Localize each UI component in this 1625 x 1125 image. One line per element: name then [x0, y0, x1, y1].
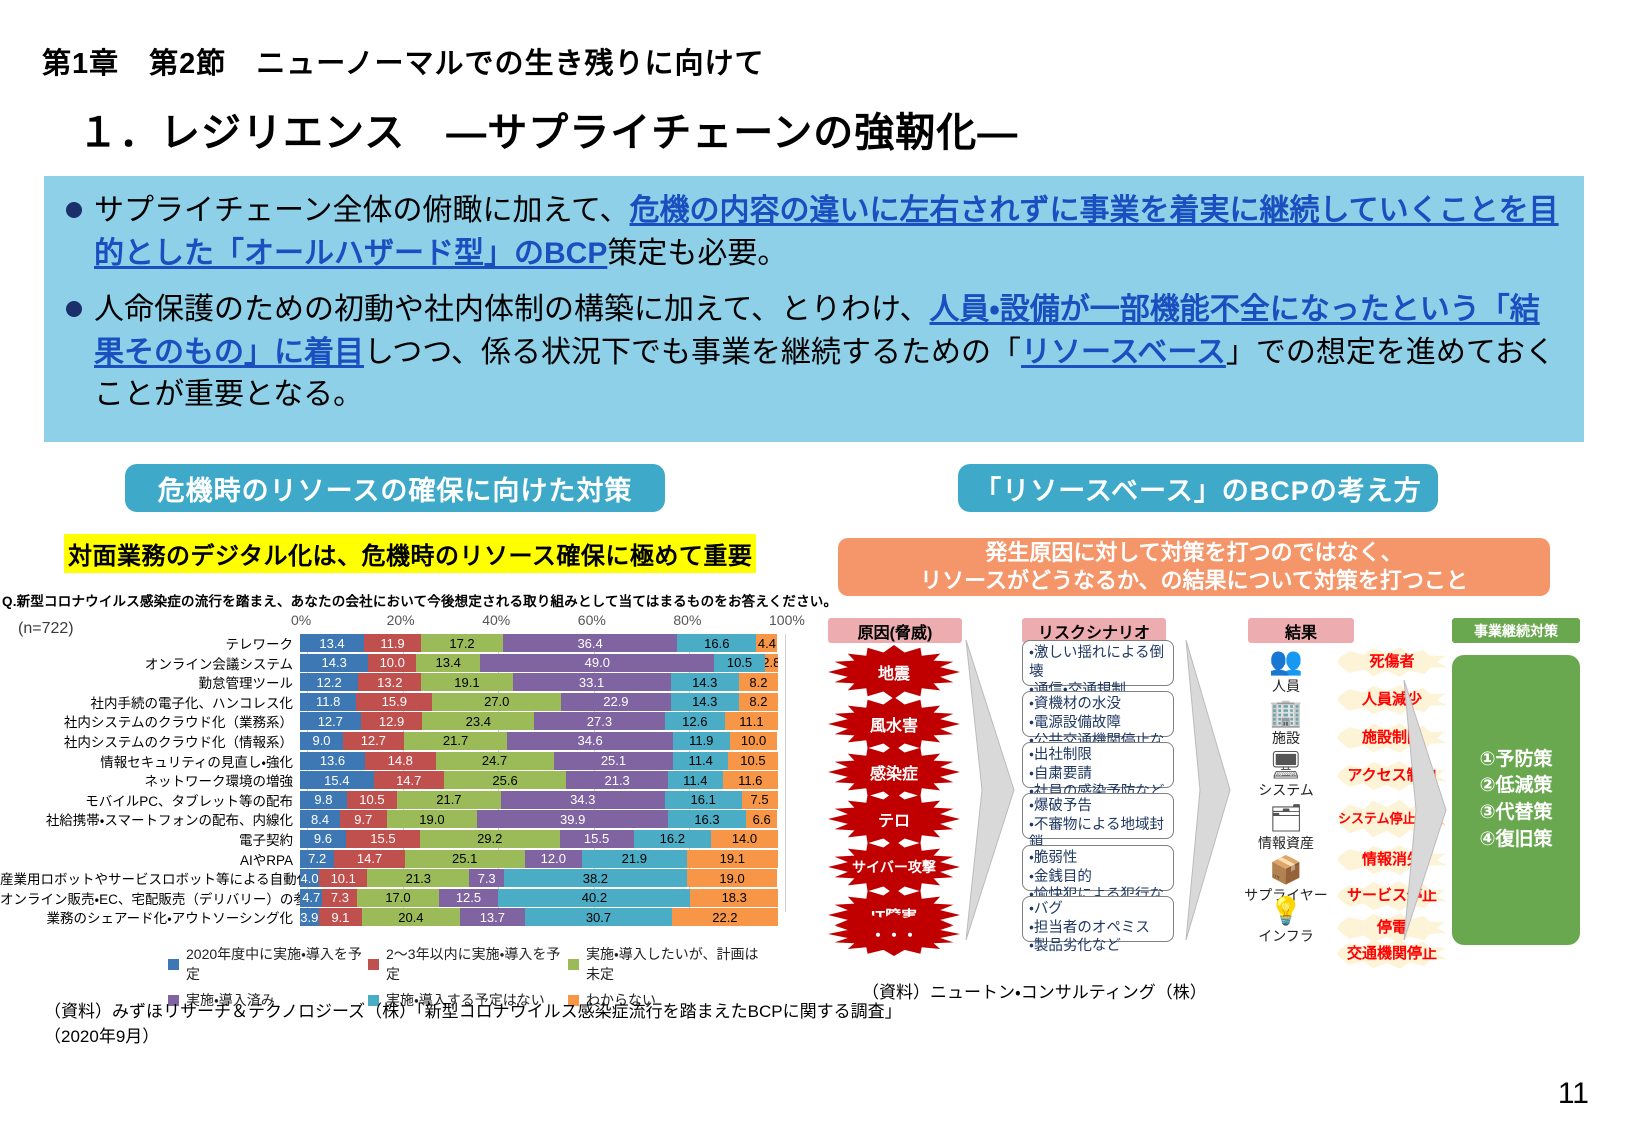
chart-segment: 16.2: [634, 830, 711, 848]
scenario-box: ・爆破予告・不審物による地域封鎖・オフィスビルからの避難など: [1022, 793, 1174, 839]
chart-category-label: 情報セキュリティの見直し・強化: [0, 751, 300, 771]
scenario-line: ・製品劣化など: [1029, 937, 1167, 956]
chart-segment: 19.1: [687, 850, 778, 868]
resource-label: システム: [1240, 780, 1332, 800]
chart-segment: 17.0: [357, 889, 438, 907]
chart-segment: 9.0: [300, 732, 343, 750]
chart-segment: 11.6: [723, 771, 778, 789]
legend-item: 実施・導入したいが、計画は未定: [568, 944, 768, 984]
chart-row: 産業用ロボットやサービスロボット等による自動化4.010.121.37.338.…: [0, 869, 790, 887]
chart-segment: 14.3: [671, 693, 739, 711]
scenario-line: ・金銭目的: [1029, 868, 1167, 887]
chart-segment: 24.7: [436, 752, 554, 770]
resource-glyph-icon: 🏢: [1240, 700, 1332, 727]
x-tick-label: 20%: [387, 612, 415, 628]
chart-segment: 38.2: [504, 869, 687, 887]
legend-swatch-icon: [368, 959, 379, 970]
chart-row: AIやRPA7.214.725.112.021.919.1: [0, 850, 790, 868]
chart-category-label: オンライン販売・EC、宅配販売（デリバリー）の参入・拡充: [0, 888, 300, 908]
chart-segment: 9.7: [340, 810, 386, 828]
result-burst-icon: 死傷者: [1336, 646, 1448, 678]
legend-swatch-icon: [168, 959, 179, 970]
chart-segment: 11.1: [725, 712, 778, 730]
arrow-result-to-measure: [1400, 680, 1452, 940]
chart-segment: 13.4: [300, 634, 364, 652]
legend-swatch-icon: [568, 959, 579, 970]
chart-segment: 9.8: [300, 791, 347, 809]
chart-row: モバイルPC、タブレット等の配布9.810.521.734.316.17.5: [0, 791, 790, 809]
x-tick-label: 40%: [482, 612, 510, 628]
chart-segment: 12.0: [525, 850, 582, 868]
section-pill-right: 「リソースベース」のBCPの考え方: [958, 464, 1438, 512]
result-line: 死傷者: [1369, 654, 1414, 671]
measure-list: ①予防策②低減策③代替策④復旧策: [1479, 747, 1552, 853]
source-left: （資料）みずほリサーチ＆テクノロジーズ（株）「新型コロナウイルス感染症流行を踏ま…: [44, 1000, 902, 1049]
scenario-box: ・バグ・担当者のオペミス・製品劣化など: [1022, 896, 1174, 942]
cause-burst-icon: 感染症: [828, 745, 960, 799]
scenario-box: ・激しい揺れによる倒壊・通信・交通規制・公共交通機関停止など: [1022, 640, 1174, 686]
chart-segment: 19.0: [687, 869, 778, 887]
chart-segment: 36.4: [503, 634, 677, 652]
chart-category-label: 社内システムのクラウド化（業務系）: [0, 711, 300, 731]
cause-burst-icon: テロ: [828, 792, 960, 846]
chart-segment: 34.6: [507, 732, 672, 750]
chart-category-label: AIやRPA: [0, 849, 300, 869]
chart-segment: 7.3: [469, 869, 504, 887]
chart-segment: 21.3: [367, 869, 469, 887]
chart-segment: 25.6: [444, 771, 566, 789]
bullet1-pre: サプライチェーン全体の俯瞰に加えて、: [94, 194, 630, 227]
chart-segment: 16.3: [668, 810, 746, 828]
chart-category-label: 電子契約: [0, 829, 300, 849]
resource-label: 人員: [1240, 676, 1332, 696]
chart-segment: 40.2: [498, 889, 690, 907]
chart-segment: 21.7: [397, 791, 501, 809]
chart-segment: 3.9: [300, 908, 319, 926]
chart-segment: 12.2: [300, 673, 358, 691]
chart-category-label: 社内システムのクラウド化（情報系）: [0, 731, 300, 751]
key-points-callout: サプライチェーン全体の俯瞰に加えて、危機の内容の違いに左右されずに事業を着実に継…: [44, 176, 1584, 442]
chart-segment: 2.8: [765, 654, 778, 672]
chart-segment: 39.9: [477, 810, 668, 828]
chart-segment: 12.5: [439, 889, 499, 907]
chart-segment: 10.1: [319, 869, 367, 887]
chart-category-label: テレワーク: [0, 633, 300, 653]
scenario-box: ・資機材の水没・電源設備故障・公共交通機関停止など: [1022, 691, 1174, 737]
folder-icon: 🗂情報資産: [1240, 805, 1332, 853]
chart-bar: 9.615.529.215.516.214.0: [300, 830, 778, 848]
chart-segment: 15.5: [346, 830, 420, 848]
chart-segment: 14.3: [300, 654, 368, 672]
chart-row: オンライン会議システム14.310.013.449.010.52.8: [0, 654, 790, 672]
chart-segment: 12.7: [343, 732, 404, 750]
chart-bar: 4.77.317.012.540.218.3: [300, 889, 778, 907]
arrow-cause-to-scenario: [960, 640, 1020, 940]
page-number: 11: [1558, 1077, 1589, 1111]
chart-category-label: モバイルPC、タブレット等の配布: [0, 790, 300, 810]
chart-row: 電子契約9.615.529.215.516.214.0: [0, 830, 790, 848]
chart-segment: 12.7: [300, 712, 361, 730]
chart-segment: 12.9: [361, 712, 423, 730]
chart-segment: 12.6: [665, 712, 725, 730]
scenario-line: ・激しい揺れによる倒壊: [1029, 644, 1167, 681]
bullet-dot-icon: [66, 202, 82, 218]
chart-segment: 27.0: [432, 693, 561, 711]
chart-segment: 7.3: [322, 889, 357, 907]
chart-row: 社内システムのクラウド化（情報系）9.012.721.734.611.910.0: [0, 732, 790, 750]
chart-bar: 7.214.725.112.021.919.1: [300, 850, 778, 868]
chart-segment: 25.1: [405, 850, 525, 868]
scenario-box: ・出社制限・自粛要請・社員の感染予防など: [1022, 742, 1174, 788]
resource-label: 情報資産: [1240, 833, 1332, 853]
chart-segment: 10.5: [347, 791, 397, 809]
chart-row: テレワーク13.411.917.236.416.64.4: [0, 634, 790, 652]
result-line: システム: [1338, 812, 1390, 826]
chart-segment: 11.8: [300, 693, 356, 711]
chart-segment: 20.4: [362, 908, 460, 926]
scenario-line: ・資機材の水没: [1029, 695, 1167, 714]
computer-icon: 🖥システム: [1240, 752, 1332, 800]
legend-label: 実施・導入したいが、計画は未定: [586, 944, 768, 984]
x-tick-label: 100%: [769, 612, 805, 628]
chart-segment: 10.0: [368, 654, 416, 672]
chart-segment: 7.5: [742, 791, 778, 809]
chart-segment: 21.3: [566, 771, 668, 789]
chart-segment: 4.0: [300, 869, 319, 887]
chart-segment: 21.7: [404, 732, 508, 750]
bullet1-post: 策定も必要。: [607, 237, 787, 270]
legend-label: 2～3年以内に実施・導入を予定: [386, 944, 568, 984]
resource-label: インフラ: [1240, 926, 1332, 946]
chart-segment: 13.6: [300, 752, 365, 770]
chart-segment: 22.9: [561, 693, 670, 711]
chart-segment: 7.2: [300, 850, 334, 868]
chart-segment: 16.6: [677, 634, 756, 652]
chapter-subtitle: 第1章 第2節 ニューノーマルでの生き残りに向けて: [42, 40, 765, 82]
chart-segment: 18.3: [690, 889, 777, 907]
section-pill-left: 危機時のリソースの確保に向けた対策: [125, 464, 665, 512]
infra-icon: 💡インフラ: [1240, 898, 1332, 946]
chart-row: 勤怠管理ツール12.213.219.133.114.38.2: [0, 673, 790, 691]
chart-row: 情報セキュリティの見直し・強化13.614.824.725.111.410.5: [0, 752, 790, 770]
chart-segment: 13.2: [358, 673, 421, 691]
measure-item: ④復旧策: [1479, 827, 1552, 854]
concept-line-2: リソースがどうなるか、の結果について対策を打つこと: [920, 567, 1468, 595]
page-title: １．レジリエンス ―サプライチェーンの強靭化―: [78, 100, 1018, 158]
cause-burst-icon: サイバー攻撃: [828, 840, 960, 894]
result-burst-icon: 交通機関停止: [1336, 938, 1448, 970]
resource-label: 施設: [1240, 728, 1332, 748]
chart-row: 社内手続の電子化、ハンコレス化11.815.927.022.914.38.2: [0, 693, 790, 711]
chart-category-label: 勤怠管理ツール: [0, 672, 300, 692]
bullet-item-2: 人命保護のための初動や社内体制の構築に加えて、とりわけ、人員・設備が一部機能不全…: [66, 289, 1562, 417]
chart-row: 社内システムのクラウド化（業務系）12.712.923.427.312.611.…: [0, 712, 790, 730]
chart-bar: 12.213.219.133.114.38.2: [300, 673, 778, 691]
chart-segment: 17.2: [421, 634, 503, 652]
concept-banner: 発生原因に対して対策を打つのではなく、 リソースがどうなるか、の結果について対策…: [838, 538, 1550, 596]
arrow-scenario-to-result: [1180, 640, 1236, 940]
chart-question: Q.新型コロナウイルス感染症の流行を踏まえ、あなたの会社において今後想定される取…: [2, 590, 837, 610]
legend-label: 2020年度中に実施・導入を予定: [186, 944, 368, 984]
chart-segment: 9.6: [300, 830, 346, 848]
chart-segment: 13.7: [460, 908, 525, 926]
chart-segment: 14.3: [671, 673, 739, 691]
bullet2-highlight2: リソースベース: [1021, 336, 1226, 369]
cause-burst-icon: 地震: [828, 645, 960, 699]
scenario-line: ・脆弱性: [1029, 849, 1167, 868]
source-right: （資料）ニュートン・コンサルティング（株）: [862, 978, 1207, 1003]
chart-segment: 13.4: [416, 654, 480, 672]
chart-segment: 9.1: [319, 908, 362, 926]
chart-headline: 対面業務のデジタル化は、危機時のリソース確保に極めて重要: [64, 534, 756, 573]
chart-bar: 13.411.917.236.416.64.4: [300, 634, 778, 652]
chart-bar: 9.012.721.734.611.910.0: [300, 732, 778, 750]
chart-category-label: 産業用ロボットやサービスロボット等による自動化: [0, 868, 300, 888]
bullet2-mid: しつつ、係る状況下でも事業を継続するための「: [364, 336, 1021, 369]
chart-segment: 49.0: [480, 654, 714, 672]
scenario-line: ・出社制限: [1029, 746, 1167, 765]
bullet-dot-icon: [66, 301, 82, 317]
chart-category-label: ネットワーク環境の増強: [0, 770, 300, 790]
measures-box: ①予防策②低減策③代替策④復旧策: [1452, 655, 1580, 945]
resource-glyph-icon: 🖥: [1240, 752, 1332, 779]
chart-bar: 3.99.120.413.730.722.2: [300, 908, 778, 926]
chart-segment: 27.3: [534, 712, 664, 730]
chart-segment: 19.0: [387, 810, 478, 828]
chart-segment: 14.8: [365, 752, 436, 770]
measure-item: ①予防策: [1479, 747, 1552, 774]
column-header-measure: 事業継続対策: [1452, 618, 1580, 643]
x-tick-label: 60%: [578, 612, 606, 628]
scenario-line: ・電源設備故障: [1029, 714, 1167, 733]
chart-category-label: オンライン会議システム: [0, 653, 300, 673]
result-line: 交通機関停止: [1347, 946, 1437, 963]
chart-segment: 15.9: [356, 693, 432, 711]
chart-row: 社給携帯・スマートフォンの配布、内線化8.49.719.039.916.36.6: [0, 810, 790, 828]
chart-segment: 10.0: [730, 732, 778, 750]
scenario-line: ・担当者のオペミス: [1029, 919, 1167, 938]
chart-segment: 11.4: [668, 771, 722, 789]
chart-segment: 8.4: [300, 810, 340, 828]
chart-bar: 9.810.521.734.316.17.5: [300, 791, 778, 809]
chart-segment: 33.1: [513, 673, 671, 691]
chart-segment: 16.1: [665, 791, 742, 809]
people-icon: 👥人員: [1240, 648, 1332, 696]
chart-segment: 11.9: [673, 732, 730, 750]
resource-glyph-icon: 💡: [1240, 898, 1332, 925]
chart-segment: 11.9: [364, 634, 421, 652]
resource-glyph-icon: 👥: [1240, 648, 1332, 675]
x-tick-label: 0%: [291, 612, 311, 628]
stacked-bar-chart: テレワーク13.411.917.236.416.64.4オンライン会議システム1…: [0, 634, 790, 928]
chart-segment: 29.2: [420, 830, 560, 848]
bullet-text-1: サプライチェーン全体の俯瞰に加えて、危機の内容の違いに左右されずに事業を着実に継…: [94, 190, 1562, 275]
chart-segment: 14.7: [334, 850, 404, 868]
chart-bar: 8.49.719.039.916.36.6: [300, 810, 778, 828]
chart-segment: 19.1: [421, 673, 512, 691]
chart-category-label: 業務のシェアード化・アウトソーシング化: [0, 907, 300, 927]
chart-segment: 11.4: [673, 752, 727, 770]
chart-segment: 22.2: [672, 908, 778, 926]
chart-row: オンライン販売・EC、宅配販売（デリバリー）の参入・拡充4.77.317.012…: [0, 889, 790, 907]
building-icon: 🏢施設: [1240, 700, 1332, 748]
chart-category-label: 社給携帯・スマートフォンの配布、内線化: [0, 809, 300, 829]
legend-item: 2020年度中に実施・導入を予定: [168, 944, 368, 984]
scenario-line: ・爆破予告: [1029, 797, 1167, 816]
chart-bar: 15.414.725.621.311.411.6: [300, 771, 778, 789]
chart-segment: 15.4: [300, 771, 374, 789]
concept-line-1: 発生原因に対して対策を打つのではなく、: [985, 539, 1402, 567]
x-tick-label: 80%: [673, 612, 701, 628]
chart-segment: 10.5: [714, 654, 764, 672]
chart-bar: 12.712.923.427.312.611.1: [300, 712, 778, 730]
chart-segment: 6.6: [746, 810, 778, 828]
scenario-line: ・自粛要請: [1029, 765, 1167, 784]
resource-glyph-icon: 📦: [1240, 857, 1332, 884]
chart-segment: 21.9: [582, 850, 687, 868]
chart-segment: 8.2: [739, 693, 778, 711]
measure-item: ③代替策: [1479, 800, 1552, 827]
chart-segment: 4.7: [300, 889, 322, 907]
chart-segment: 4.4: [756, 634, 777, 652]
measure-item: ②低減策: [1479, 773, 1552, 800]
chart-segment: 23.4: [422, 712, 534, 730]
chart-segment: 30.7: [525, 908, 672, 926]
cause-burst-icon: 風水害: [828, 697, 960, 751]
chart-bar: 4.010.121.37.338.219.0: [300, 869, 778, 887]
chart-segment: 14.7: [374, 771, 444, 789]
bullet-text-2: 人命保護のための初動や社内体制の構築に加えて、とりわけ、人員・設備が一部機能不全…: [94, 289, 1562, 417]
chart-segment: 8.2: [739, 673, 778, 691]
chart-bar: 14.310.013.449.010.52.8: [300, 654, 778, 672]
chart-bar: 11.815.927.022.914.38.2: [300, 693, 778, 711]
legend-item: 2～3年以内に実施・導入を予定: [368, 944, 568, 984]
chart-segment: 34.3: [501, 791, 665, 809]
bullet2-pre: 人命保護のための初動や社内体制の構築に加えて、とりわけ、: [94, 293, 930, 326]
chart-row: 業務のシェアード化・アウトソーシング化3.99.120.413.730.722.…: [0, 908, 790, 926]
bullet-item-1: サプライチェーン全体の俯瞰に加えて、危機の内容の違いに左右されずに事業を着実に継…: [66, 190, 1562, 275]
chart-segment: 14.0: [711, 830, 778, 848]
resource-glyph-icon: 🗂: [1240, 805, 1332, 832]
scenario-box: ・脆弱性・金銭目的・愉快犯による犯行など: [1022, 845, 1174, 891]
chart-segment: 25.1: [554, 752, 674, 770]
chart-category-label: 社内手続の電子化、ハンコレス化: [0, 692, 300, 712]
chart-segment: 15.5: [560, 830, 634, 848]
scenario-line: ・バグ: [1029, 900, 1167, 919]
column-header-cause: 原因(脅威): [828, 618, 962, 643]
column-header-result: 結果: [1248, 618, 1354, 643]
chart-bar: 13.614.824.725.111.410.5: [300, 752, 778, 770]
chart-row: ネットワーク環境の増強15.414.725.621.311.411.6: [0, 771, 790, 789]
chart-segment: 10.5: [728, 752, 778, 770]
